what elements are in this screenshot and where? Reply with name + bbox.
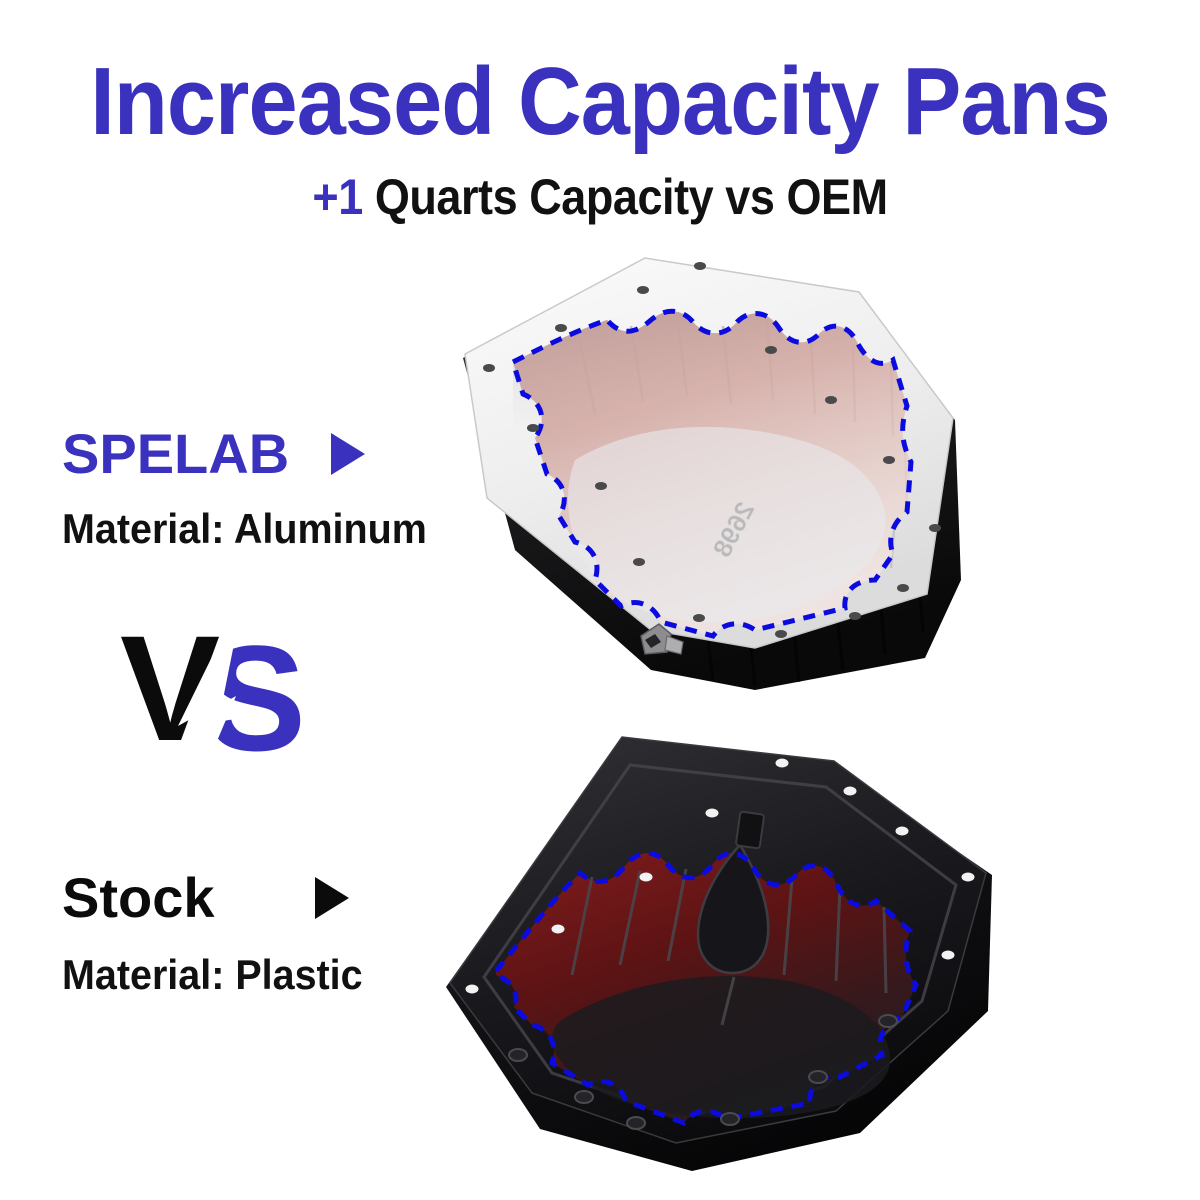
spelab-label-block: SPELAB Material: Aluminum <box>62 424 450 554</box>
pan-pickup-boss <box>736 811 764 848</box>
capacity-gain-text: Quarts Capacity vs OEM <box>363 169 888 225</box>
capacity-gain-value: +1 <box>312 169 362 225</box>
play-triangle-icon <box>331 433 365 475</box>
product-comparison-graphic: Increased Capacity Pans +1 Quarts Capaci… <box>0 0 1200 1200</box>
stock-brand-row: Stock <box>62 868 382 928</box>
page-title: Increased Capacity Pans <box>48 52 1152 152</box>
spelab-brand-row: SPELAB <box>62 424 450 484</box>
vs-badge: V S <box>118 612 318 827</box>
page-subtitle: +1 Quarts Capacity vs OEM <box>60 168 1140 226</box>
stock-material-label: Material: Plastic <box>62 950 363 1000</box>
stock-label-block: Stock Material: Plastic <box>62 868 382 1000</box>
stock-plastic-pan-image <box>440 725 1000 1175</box>
spelab-material-label: Material: Aluminum <box>62 504 427 554</box>
spelab-aluminum-pan-image: 2698 <box>455 250 985 690</box>
spelab-brand-name: SPELAB <box>62 424 289 484</box>
play-triangle-icon <box>315 877 349 919</box>
stock-brand-name: Stock <box>62 868 215 928</box>
